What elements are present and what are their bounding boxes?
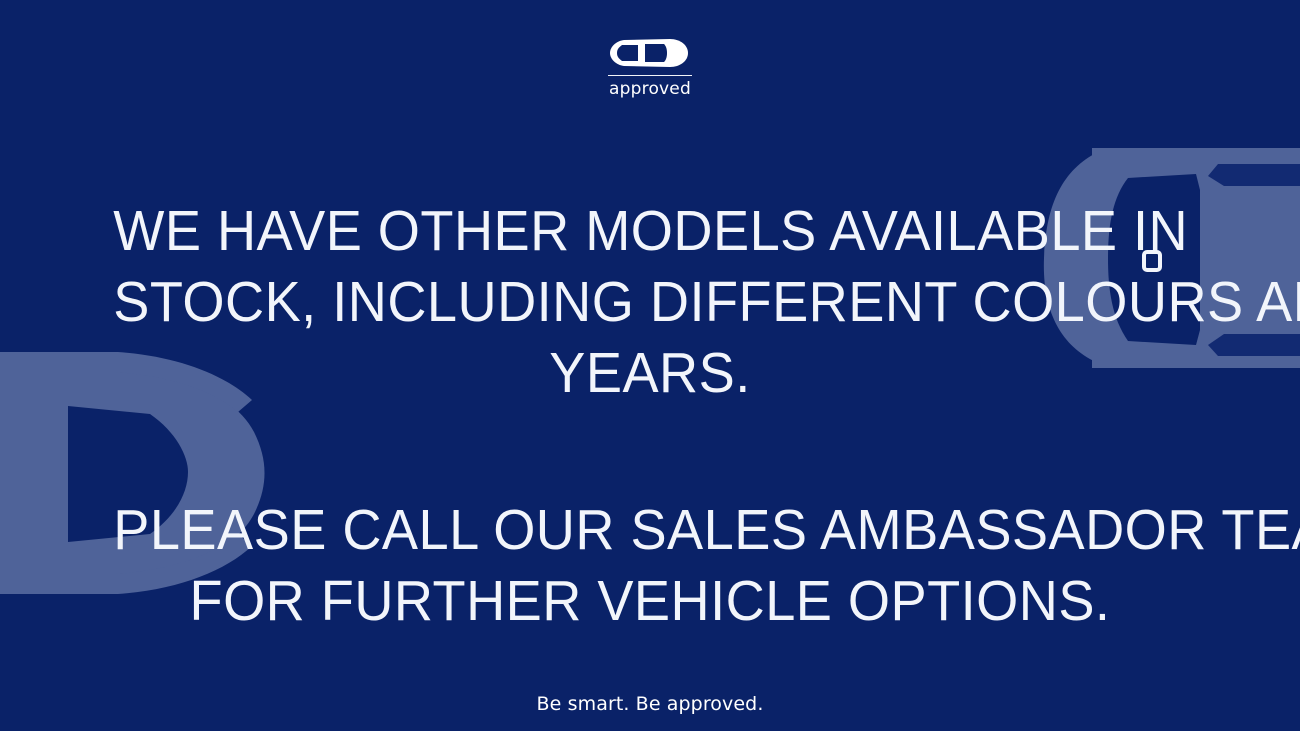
brand-logo: approved [0,36,1300,98]
slide-content: WE HAVE OTHER MODELS AVAILABLE IN STOCK,… [0,0,1300,731]
headline-line-2: STOCK, INCLUDING DIFFERENT COLOURS AND [113,267,1187,338]
car-top-view-icon [608,36,692,70]
headline-line-3: YEARS. [113,338,1187,409]
headline-block-primary: WE HAVE OTHER MODELS AVAILABLE IN STOCK,… [113,196,1187,409]
headline-line-4: PLEASE CALL OUR SALES AMBASSADOR TEAM [113,495,1187,566]
promo-slide: approved WE HAVE OTHER MODELS AVAILABLE … [0,0,1300,731]
tagline: Be smart. Be approved. [537,693,764,715]
headline-block-secondary: PLEASE CALL OUR SALES AMBASSADOR TEAM FO… [113,495,1187,637]
logo-divider [608,75,692,76]
headline-line-1: WE HAVE OTHER MODELS AVAILABLE IN [113,196,1187,267]
headline-line-5: FOR FURTHER VEHICLE OPTIONS. [113,566,1187,637]
logo-wordmark: approved [609,81,691,98]
